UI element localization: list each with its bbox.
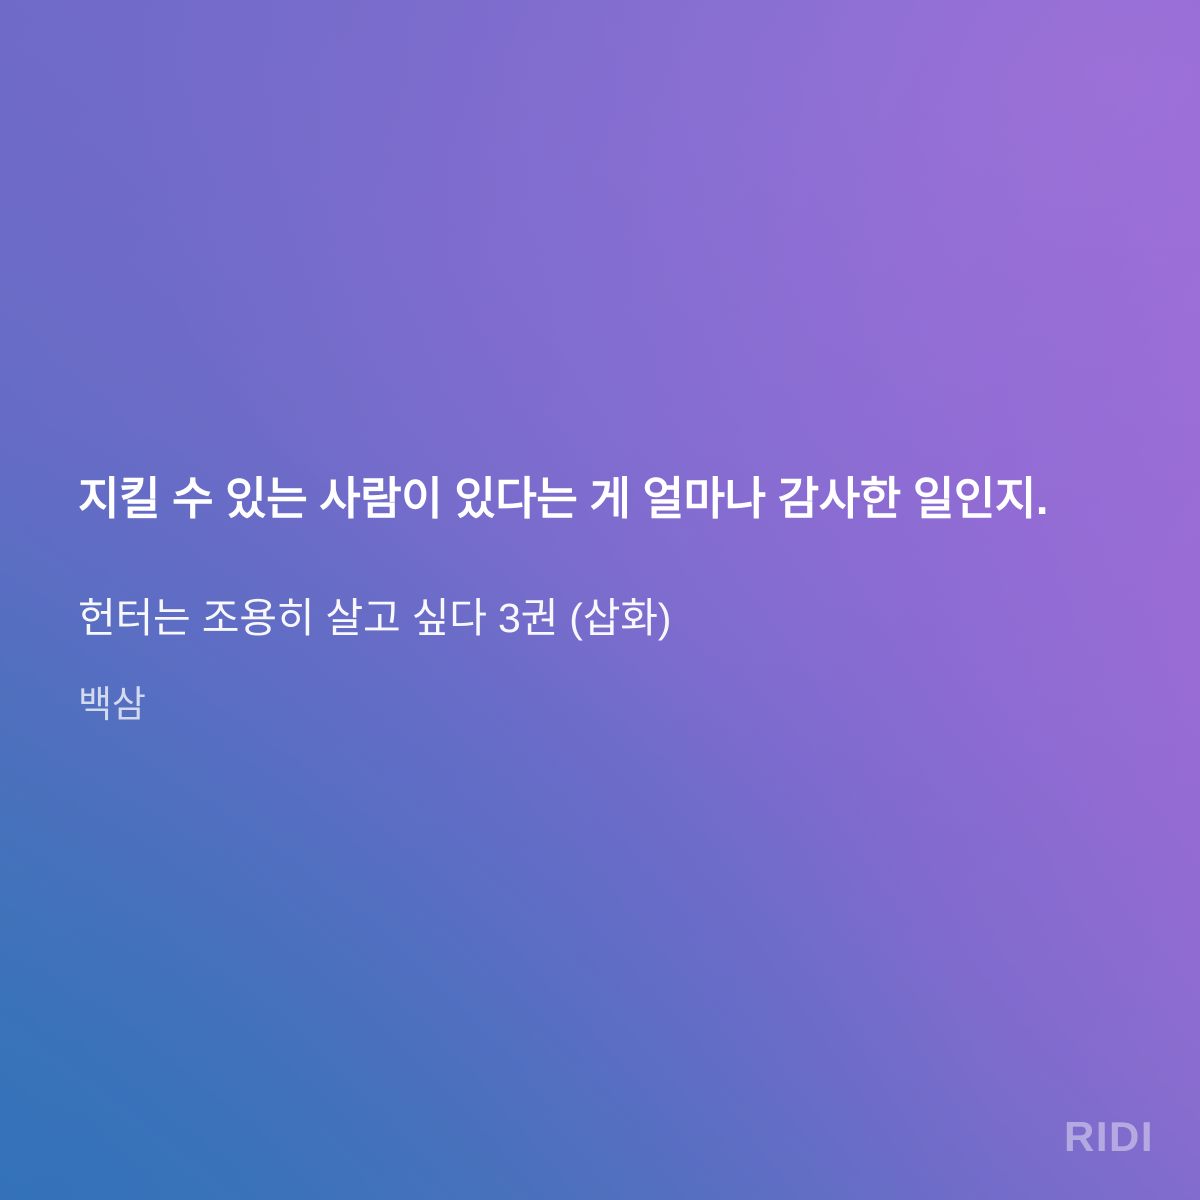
author-name: 백삼 xyxy=(78,681,1118,729)
ridi-logo: RIDI xyxy=(1064,1116,1154,1158)
quote-text-block: 지킬 수 있는 사람이 있다는 게 얼마나 감사한 일인지. 헌터는 조용히 살… xyxy=(78,470,1118,729)
quote-text: 지킬 수 있는 사람이 있다는 게 얼마나 감사한 일인지. xyxy=(78,470,1118,528)
book-title: 헌터는 조용히 살고 싶다 3권 (삽화) xyxy=(78,592,1118,645)
quote-share-card: 지킬 수 있는 사람이 있다는 게 얼마나 감사한 일인지. 헌터는 조용히 살… xyxy=(0,0,1200,1200)
